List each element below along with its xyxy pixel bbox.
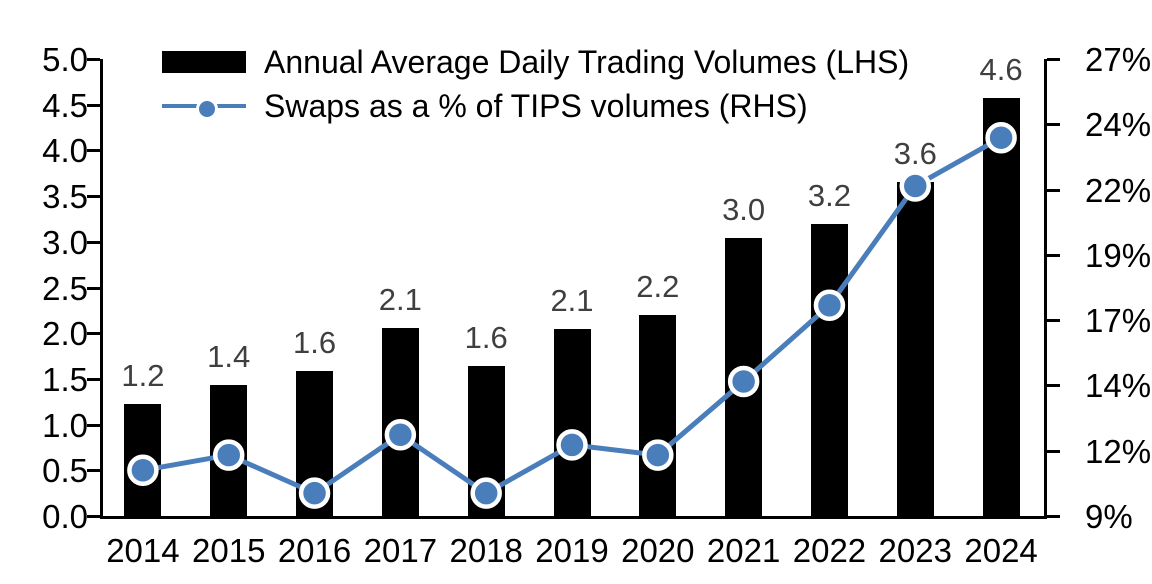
right-axis-tick-mark bbox=[1047, 319, 1060, 322]
bar-data-label: 3.6 bbox=[894, 138, 937, 169]
line-marker bbox=[730, 368, 757, 395]
right-axis-tick-label: 24% bbox=[1085, 108, 1151, 141]
bar-data-label: 1.2 bbox=[121, 360, 164, 391]
line-marker-swatch-icon bbox=[162, 95, 246, 117]
left-axis-tick-label: 4.5 bbox=[42, 89, 88, 122]
legend-item-line: Swaps as a % of TIPS volumes (RHS) bbox=[162, 84, 909, 128]
left-axis-tick-mark bbox=[87, 378, 100, 381]
x-axis-category-label: 2016 bbox=[278, 534, 351, 567]
left-axis-tick-mark bbox=[87, 332, 100, 335]
line-marker bbox=[816, 292, 843, 319]
right-axis-tick-label: 17% bbox=[1085, 304, 1151, 337]
left-axis-tick-label: 2.5 bbox=[42, 272, 88, 305]
left-axis-tick-mark bbox=[87, 515, 100, 518]
line-marker bbox=[129, 457, 156, 484]
right-axis-tick-mark bbox=[1047, 254, 1060, 257]
right-axis-tick-label: 12% bbox=[1085, 435, 1151, 468]
x-axis-category-label: 2019 bbox=[535, 534, 608, 567]
right-axis-tick-mark bbox=[1047, 189, 1060, 192]
x-axis-spine bbox=[100, 516, 1047, 519]
line-marker bbox=[301, 480, 328, 507]
bar-data-label: 3.0 bbox=[722, 194, 765, 225]
line-marker bbox=[644, 442, 671, 469]
bar-data-label: 2.1 bbox=[379, 284, 422, 315]
left-axis-tick-label: 3.0 bbox=[42, 226, 88, 259]
x-axis-category-label: 2018 bbox=[449, 534, 522, 567]
bar-swatch-icon bbox=[162, 51, 246, 73]
left-axis-tick-label: 1.5 bbox=[42, 363, 88, 396]
right-axis-tick-mark bbox=[1047, 58, 1060, 61]
bar-data-label: 3.2 bbox=[808, 180, 851, 211]
x-axis-category-label: 2021 bbox=[707, 534, 780, 567]
left-axis-tick-label: 1.0 bbox=[42, 409, 88, 442]
right-axis-tick-label: 19% bbox=[1085, 239, 1151, 272]
x-axis-category-label: 2022 bbox=[793, 534, 866, 567]
left-axis-tick-mark bbox=[87, 149, 100, 152]
right-axis-tick-mark bbox=[1047, 515, 1060, 518]
left-axis-tick-label: 0.0 bbox=[42, 500, 88, 533]
left-axis-tick-mark bbox=[87, 104, 100, 107]
x-axis-category-label: 2024 bbox=[964, 534, 1037, 567]
left-axis-tick-mark bbox=[87, 469, 100, 472]
right-axis-tick-label: 14% bbox=[1085, 369, 1151, 402]
line-marker bbox=[387, 421, 414, 448]
legend-item-bars: Annual Average Daily Trading Volumes (LH… bbox=[162, 40, 909, 84]
left-axis-tick-label: 0.5 bbox=[42, 454, 88, 487]
x-axis-category-label: 2014 bbox=[106, 534, 179, 567]
legend-label-bars: Annual Average Daily Trading Volumes (LH… bbox=[264, 46, 909, 78]
line-marker bbox=[559, 431, 586, 458]
x-axis-category-label: 2015 bbox=[192, 534, 265, 567]
left-axis-tick-label: 3.5 bbox=[42, 180, 88, 213]
left-axis-tick-mark bbox=[87, 241, 100, 244]
left-axis-tick-mark bbox=[87, 195, 100, 198]
x-axis-category-label: 2023 bbox=[879, 534, 952, 567]
left-axis-tick-mark bbox=[87, 58, 100, 61]
legend-label-line: Swaps as a % of TIPS volumes (RHS) bbox=[264, 90, 808, 122]
bar-data-label: 2.1 bbox=[550, 285, 593, 316]
line-marker bbox=[215, 442, 242, 469]
line-marker bbox=[988, 124, 1015, 151]
left-axis-tick-label: 4.0 bbox=[42, 134, 88, 167]
right-axis-tick-label: 22% bbox=[1085, 174, 1151, 207]
left-axis-tick-mark bbox=[87, 424, 100, 427]
bar-data-label: 1.6 bbox=[465, 322, 508, 353]
right-axis-tick-label: 27% bbox=[1085, 43, 1151, 76]
bar-data-label: 2.2 bbox=[636, 271, 679, 302]
right-axis-tick-mark bbox=[1047, 450, 1060, 453]
left-axis-tick-label: 2.0 bbox=[42, 317, 88, 350]
chart-container: 0.00.51.01.52.02.53.03.54.04.55.0 9%12%1… bbox=[0, 0, 1152, 584]
left-axis-tick-mark bbox=[87, 287, 100, 290]
legend-marker-dot-icon bbox=[196, 98, 218, 120]
x-axis-category-label: 2017 bbox=[364, 534, 437, 567]
right-axis-tick-label: 9% bbox=[1085, 500, 1133, 533]
bar-data-label: 1.4 bbox=[207, 341, 250, 372]
left-axis-tick-label: 5.0 bbox=[42, 43, 88, 76]
line-marker bbox=[902, 172, 929, 199]
right-axis-tick-mark bbox=[1047, 384, 1060, 387]
right-axis-tick-mark bbox=[1047, 123, 1060, 126]
line-marker bbox=[473, 480, 500, 507]
bar-data-label: 1.6 bbox=[293, 327, 336, 358]
bar-data-label: 4.6 bbox=[980, 54, 1023, 85]
chart-legend: Annual Average Daily Trading Volumes (LH… bbox=[162, 40, 909, 128]
x-axis-category-label: 2020 bbox=[621, 534, 694, 567]
